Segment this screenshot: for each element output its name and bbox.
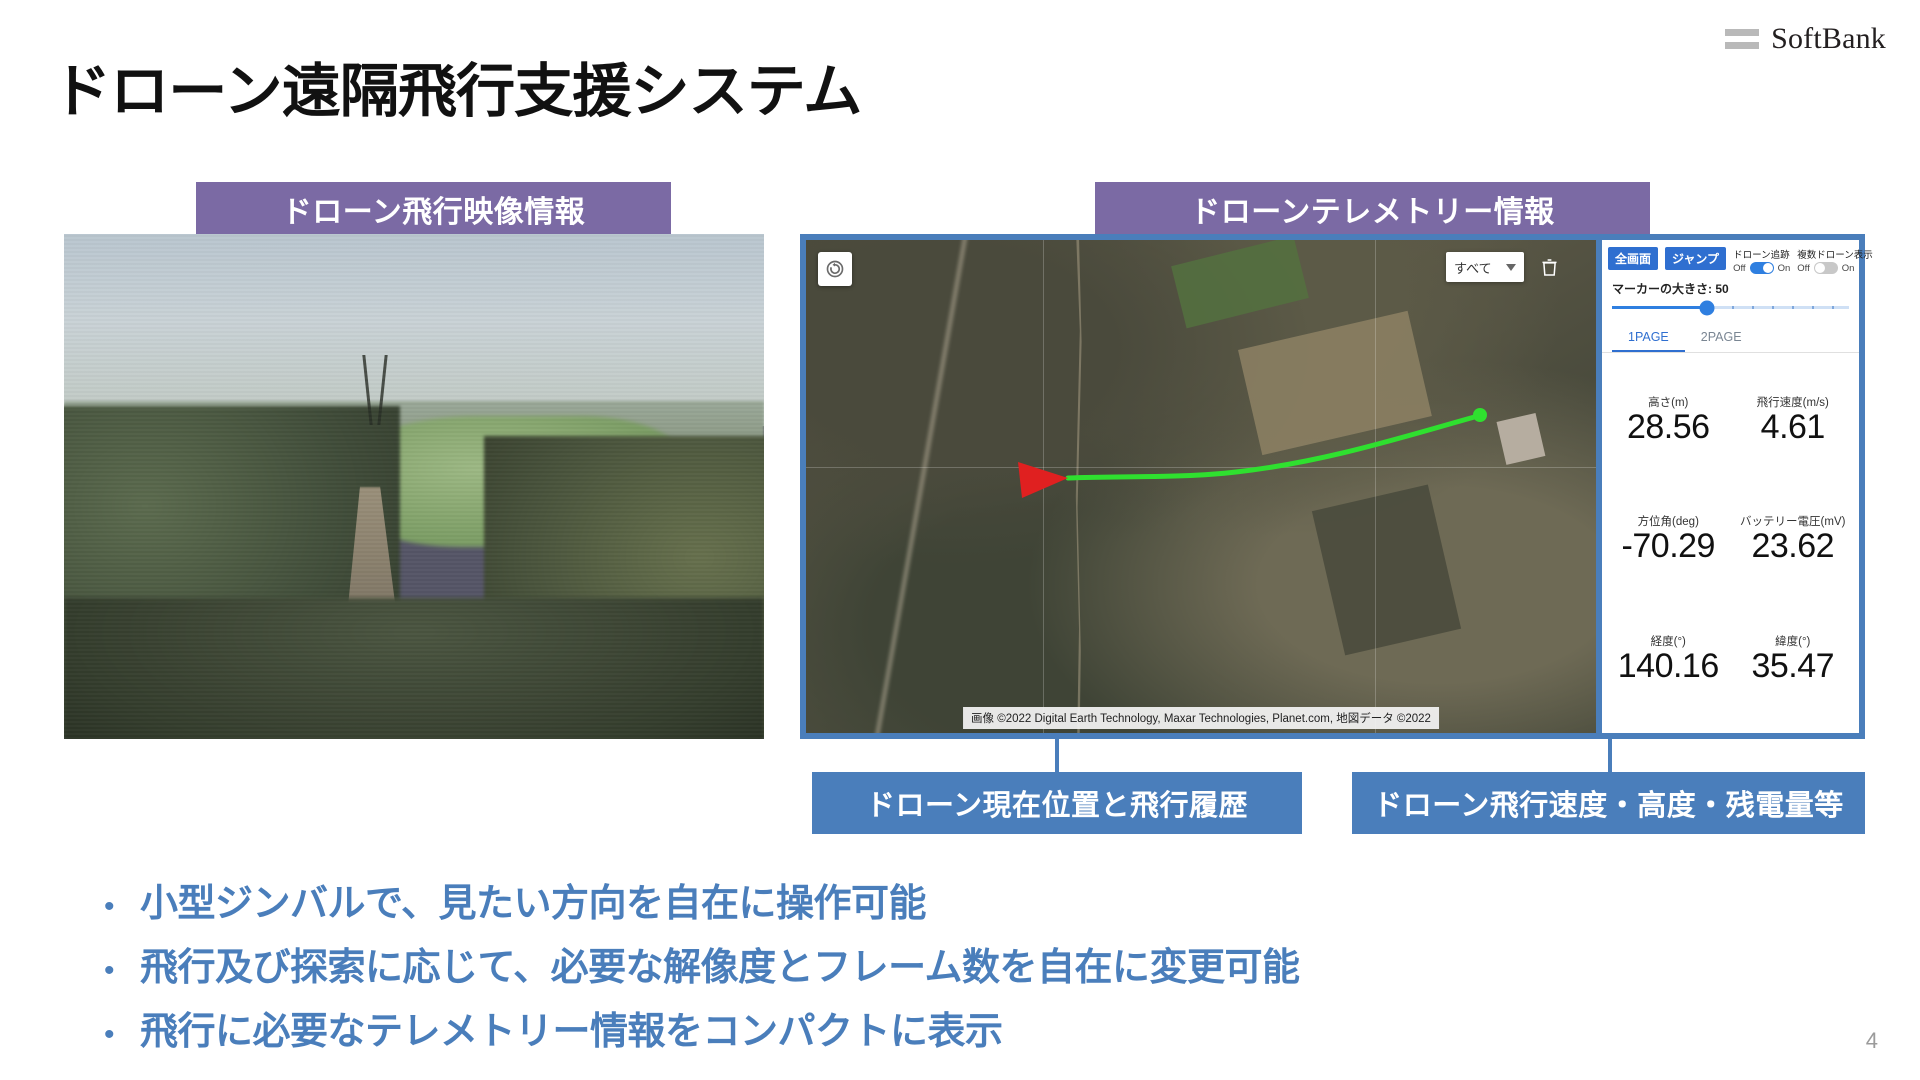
map-attribution: 画像 ©2022 Digital Earth Technology, Maxar…: [963, 707, 1439, 729]
softbank-bars-icon: [1725, 29, 1759, 49]
fullscreen-button[interactable]: 全画面: [1608, 247, 1658, 270]
multi-drone-toggle[interactable]: Off On: [1797, 262, 1854, 274]
toggle-off-label: Off: [1733, 263, 1746, 274]
connector-right-vertical: [1608, 739, 1612, 772]
marker-size-control: マーカーの大きさ: 50: [1602, 276, 1859, 309]
bullet-marker: •: [104, 1020, 118, 1050]
video-sky: [64, 234, 764, 426]
marker-size-slider[interactable]: [1612, 306, 1849, 309]
readout-value: 140.16: [1618, 647, 1719, 686]
readout-value: 35.47: [1751, 647, 1834, 686]
readout-value: 28.56: [1627, 408, 1710, 447]
drone-tracking-label: ドローン追跡: [1733, 247, 1790, 261]
toggle-on-label: On: [1842, 263, 1855, 274]
video-foreground-brush: [64, 598, 764, 739]
page-title: ドローン遠隔飛行支援システム: [52, 44, 861, 128]
bullet-marker: •: [104, 892, 118, 922]
multi-drone-label: 複数ドローン表示: [1797, 247, 1873, 261]
drone-video-feed: [64, 234, 764, 739]
callout-drone-metrics: ドローン飛行速度・高度・残電量等: [1352, 772, 1865, 834]
telemetry-control-row: 全画面 ジャンプ ドローン追跡 Off On 複数ドローン表示 Off: [1602, 240, 1859, 276]
drone-tracking-toggle-group: ドローン追跡 Off On: [1733, 247, 1790, 274]
drone-origin-point: [1473, 408, 1487, 422]
section-label-video: ドローン飛行映像情報: [196, 182, 671, 236]
telemetry-tabs: 1PAGE 2PAGE: [1602, 323, 1859, 353]
bullet-list: • 小型ジンバルで、見たい方向を自在に操作可能 • 飛行及び探索に応じて、必要な…: [104, 872, 1704, 1064]
page-number: 4: [1866, 1028, 1878, 1054]
bullet-text: 飛行に必要なテレメトリー情報をコンパクトに表示: [140, 1000, 1003, 1055]
drone-flight-path: [806, 240, 1596, 733]
list-item: • 小型ジンバルで、見たい方向を自在に操作可能: [104, 872, 1704, 927]
softbank-logo: SoftBank: [1725, 22, 1886, 56]
softbank-wordmark: SoftBank: [1771, 22, 1886, 56]
readout-value: -70.29: [1622, 527, 1715, 566]
connector-left-vertical: [1055, 739, 1059, 772]
tab-1page[interactable]: 1PAGE: [1612, 323, 1685, 352]
video-transmission-tower: [358, 355, 392, 425]
toggle-off-label: Off: [1797, 263, 1810, 274]
readout-value: 4.61: [1761, 408, 1825, 447]
multi-drone-toggle-group: 複数ドローン表示 Off On: [1797, 247, 1873, 274]
bullet-text: 小型ジンバルで、見たい方向を自在に操作可能: [140, 872, 926, 927]
slide-canvas: SoftBank ドローン遠隔飛行支援システム ドローン飛行映像情報 ドローンテ…: [0, 0, 1920, 1080]
readout-latitude: 緯度(°) 35.47: [1731, 600, 1856, 719]
readout-battery-voltage: バッテリー電圧(mV) 23.62: [1731, 480, 1856, 599]
list-item: • 飛行及び探索に応じて、必要な解像度とフレーム数を自在に変更可能: [104, 936, 1704, 991]
readout-value: 23.62: [1751, 527, 1834, 566]
toggle-switch-on[interactable]: [1750, 262, 1774, 274]
jump-button[interactable]: ジャンプ: [1665, 247, 1726, 270]
bullet-text: 飛行及び探索に応じて、必要な解像度とフレーム数を自在に変更可能: [140, 936, 1299, 991]
telemetry-readout-grid: 高さ(m) 28.56 飛行速度(m/s) 4.61 方位角(deg) -70.…: [1602, 353, 1859, 733]
list-item: • 飛行に必要なテレメトリー情報をコンパクトに表示: [104, 1000, 1704, 1055]
bullet-marker: •: [104, 956, 118, 986]
readout-heading: 方位角(deg) -70.29: [1606, 480, 1731, 599]
drone-tracking-toggle[interactable]: Off On: [1733, 262, 1790, 274]
section-label-telemetry: ドローンテレメトリー情報: [1095, 182, 1650, 236]
toggle-switch-off[interactable]: [1814, 262, 1838, 274]
telemetry-composite: すべて 画像 ©2022 Digital Earth Technology, M…: [800, 234, 1865, 739]
satellite-map[interactable]: すべて 画像 ©2022 Digital Earth Technology, M…: [806, 240, 1596, 733]
callout-drone-position: ドローン現在位置と飛行履歴: [812, 772, 1302, 834]
readout-altitude: 高さ(m) 28.56: [1606, 361, 1731, 480]
marker-size-label: マーカーの大きさ: 50: [1612, 280, 1849, 297]
tab-2page[interactable]: 2PAGE: [1685, 323, 1758, 352]
toggle-on-label: On: [1778, 263, 1791, 274]
readout-speed: 飛行速度(m/s) 4.61: [1731, 361, 1856, 480]
telemetry-sidebar: 全画面 ジャンプ ドローン追跡 Off On 複数ドローン表示 Off: [1602, 240, 1859, 733]
readout-longitude: 経度(°) 140.16: [1606, 600, 1731, 719]
marker-size-slider-thumb[interactable]: [1699, 300, 1714, 315]
drone-heading-marker: [1018, 462, 1068, 498]
marker-size-slider-fill: [1612, 306, 1707, 309]
